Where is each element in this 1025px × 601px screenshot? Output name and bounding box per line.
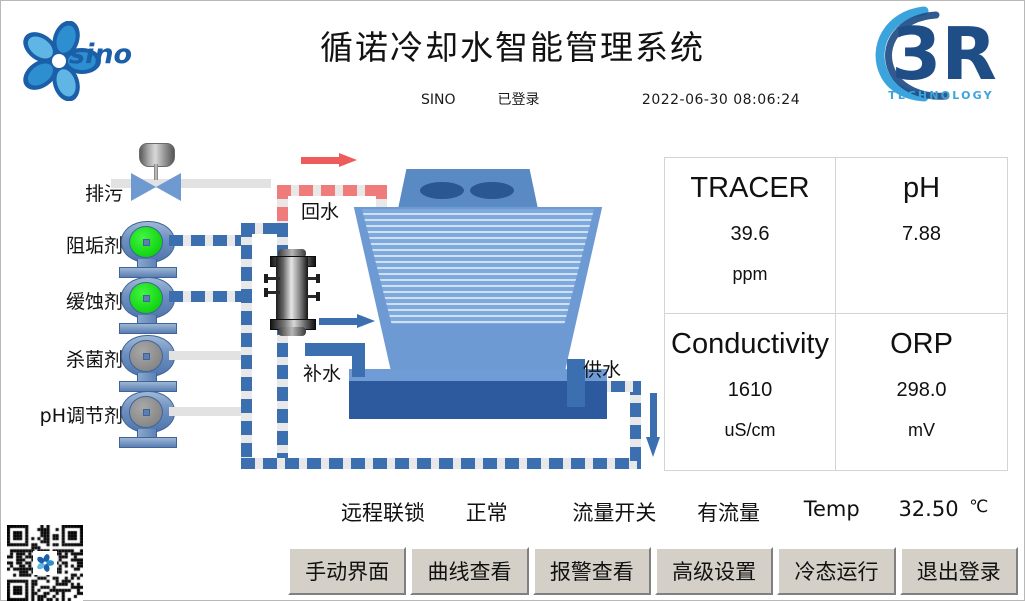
status-flow-switch-label: 流量开关 (572, 497, 690, 527)
button-curve-view[interactable]: 曲线查看 (410, 547, 528, 595)
reading-value: 1610 (728, 379, 773, 402)
partner-logo-subtext: TECHNOLOGY (866, 89, 1016, 102)
pump-status-indicator (129, 396, 163, 428)
session-status: 已登录 (497, 89, 637, 109)
pipe-supply-left-vertical (241, 223, 252, 469)
button-cold-run[interactable]: 冷态运行 (777, 547, 895, 595)
valve-body-left (131, 173, 156, 201)
status-flow-switch-value: 有流量 (697, 497, 797, 527)
label-biocide: 杀菌剂 (13, 345, 123, 372)
pipe-inhibitor-feed (169, 291, 247, 302)
pump-status-indicator (129, 226, 163, 258)
reading-unit: ppm (732, 264, 767, 285)
reading-card-orp: ORP 298.0 mV (836, 314, 1007, 470)
vessel-bottom-cap (278, 327, 306, 336)
label-antiscalant: 阻垢剂 (13, 231, 123, 258)
reading-value: 298.0 (896, 379, 946, 402)
label-blowdown: 排污 (13, 179, 123, 206)
reading-card-ph: pH 7.88 (836, 158, 1007, 314)
session-info: SINO 已登录 2022-06-30 08:06:24 (421, 89, 800, 109)
pipe-antiscalant-feed (169, 235, 247, 246)
pump-center-dot (143, 353, 150, 360)
svg-text:3R: 3R (891, 12, 997, 96)
pump-status-indicator (129, 340, 163, 372)
partner-logo: 3R TECHNOLOGY (866, 3, 1016, 121)
status-temp-value: 32.50 (898, 497, 958, 521)
reading-name: Conductivity (671, 328, 829, 361)
session-datetime: 2022-06-30 08:06:24 (642, 92, 800, 108)
label-makeup-water: 补水 (303, 359, 341, 386)
pipe-supply-from-vessel (277, 321, 288, 469)
reading-name: TRACER (690, 172, 809, 205)
arrow-makeup-flow (319, 314, 375, 328)
status-temp-unit: ℃ (965, 497, 988, 517)
valve-body-right (156, 173, 181, 201)
pump-status-indicator (129, 282, 163, 314)
session-user: SINO (421, 92, 493, 108)
vessel-shell (276, 257, 308, 327)
pipe-supply-bottom (241, 458, 641, 469)
sino-flower-icon-small (35, 553, 55, 573)
fan-blade-right (470, 182, 514, 199)
label-supply-water: 供水 (583, 355, 621, 382)
button-alarm-view[interactable]: 报警查看 (533, 547, 651, 595)
button-manual-interface[interactable]: 手动界面 (288, 547, 406, 595)
reading-value: 7.88 (902, 223, 941, 246)
qr-center-logo (33, 551, 57, 575)
3r-technology-icon: 3R (866, 3, 1016, 103)
reading-card-tracer: TRACER 39.6 ppm (665, 158, 836, 314)
reading-name: ORP (890, 328, 953, 361)
status-remote-interlock-label: 远程联锁 (341, 497, 459, 527)
pump-biocide[interactable] (117, 335, 179, 391)
reading-unit: uS/cm (724, 420, 775, 441)
reading-name: pH (903, 172, 940, 205)
qr-code[interactable] (7, 525, 83, 601)
pump-center-dot (143, 239, 150, 246)
pipe-makeup-inlet-v (352, 343, 365, 377)
pump-inhibitor[interactable] (117, 277, 179, 333)
pump-base (119, 437, 177, 448)
blowdown-valve-icon[interactable] (125, 143, 187, 199)
reading-value: 39.6 (731, 223, 770, 246)
status-temp-label: Temp (804, 497, 892, 521)
reading-card-conductivity: Conductivity 1610 uS/cm (665, 314, 836, 470)
button-logout[interactable]: 退出登录 (900, 547, 1018, 595)
application-window: sino 循诺冷却水智能管理系统 SINO 已登录 2022-06-30 08:… (0, 0, 1025, 601)
label-ph-adjuster: pH调节剂 (7, 401, 123, 428)
header: sino 循诺冷却水智能管理系统 SINO 已登录 2022-06-30 08:… (1, 1, 1024, 123)
pump-antiscalant[interactable] (117, 221, 179, 277)
vessel-port-cap-left-lower (264, 288, 268, 297)
arrow-supply-flow (646, 393, 660, 457)
pump-base (119, 323, 177, 334)
status-remote-interlock-value: 正常 (466, 497, 566, 527)
pump-center-dot (143, 295, 150, 302)
pipe-biocide-feed (169, 351, 247, 360)
label-return-water: 回水 (301, 197, 339, 224)
vessel-port-cap-right-upper (316, 274, 320, 283)
button-advanced-settings[interactable]: 高级设置 (655, 547, 773, 595)
pipe-ph-feed (169, 407, 247, 416)
tower-fan-housing (398, 169, 538, 209)
pump-center-dot (143, 409, 150, 416)
arrow-return-flow (301, 153, 357, 167)
readings-panel: TRACER 39.6 ppm pH 7.88 Conductivity 161… (664, 157, 1008, 471)
vessel-port-cap-right-lower (316, 292, 320, 301)
status-bar: 远程联锁 正常 流量开关 有流量 Temp 32.50 ℃ (341, 497, 1011, 525)
fan-blade-left (420, 182, 464, 199)
pipe-supply-right-vertical (630, 381, 641, 461)
vessel-port-cap-left-upper (264, 274, 268, 283)
water-treatment-vessel[interactable] (264, 249, 320, 335)
navigation-button-bar: 手动界面 曲线查看 报警查看 高级设置 冷态运行 退出登录 (288, 547, 1018, 595)
pump-ph-adjuster[interactable] (117, 391, 179, 447)
label-inhibitor: 缓蚀剂 (13, 287, 123, 314)
reading-unit: mV (908, 420, 935, 441)
